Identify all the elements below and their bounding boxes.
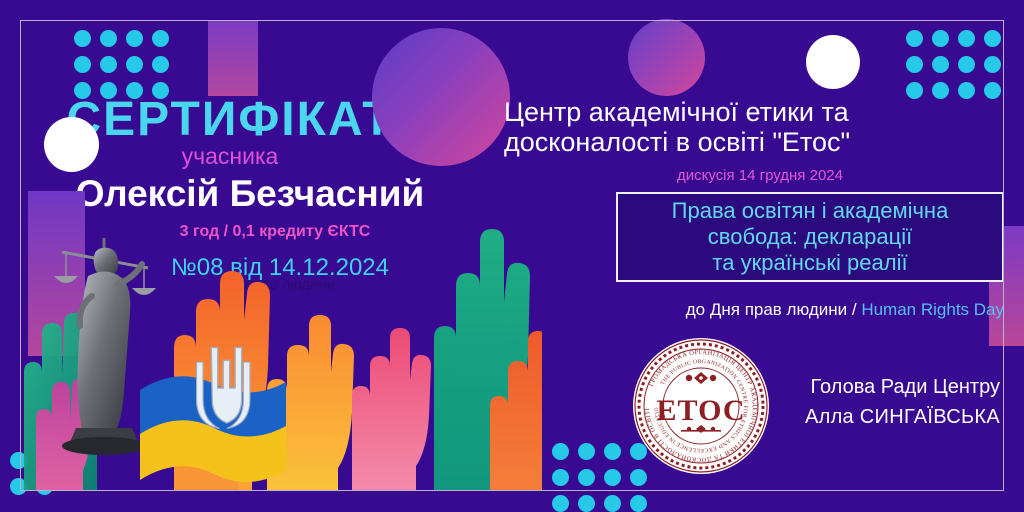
decor-dot-grid-top-left [74,30,169,99]
certificate-canvas: прав людини СЕРТИФІКАТ учасника Олексій … [0,0,1024,512]
artwork-raised-hands [22,228,542,490]
decor-circle-medium [628,19,705,96]
decor-circle-white-right [806,35,860,89]
topic-box: Права освітян і академічна свобода: декл… [616,192,1004,282]
signature-block: Голова Ради Центру Алла СИНГАЇВСЬКА [700,372,1000,432]
signatory-role: Голова Ради Центру [700,372,1000,402]
organization-line-1: Центр академічної етики та [504,97,1016,127]
decor-dot-grid-top-right [906,30,1001,99]
topic-line-2: свобода: декларації [672,224,949,250]
occasion-ua: до Дня прав людини / [686,300,862,319]
decor-rect-top [208,20,258,96]
organization-line-2: досконалості в освіті "Етос" [504,127,1016,157]
topic-line-3: та українські реалії [672,250,949,276]
occasion-line: до Дня прав людини / Human Rights Day [616,300,1004,320]
event-date: дискусія 14 грудня 2024 [504,167,1016,184]
occasion-en: Human Rights Day [861,300,1004,319]
signatory-name: Алла СИНГАЇВСЬКА [700,402,1000,432]
decor-circle-white-left [44,117,99,172]
topic-text: Права освітян і академічна свобода: декл… [666,198,955,276]
decor-circle-large [372,28,510,166]
organization-name: Центр академічної етики та досконалості … [504,97,1016,157]
topic-line-1: Права освітян і академічна [672,198,949,224]
